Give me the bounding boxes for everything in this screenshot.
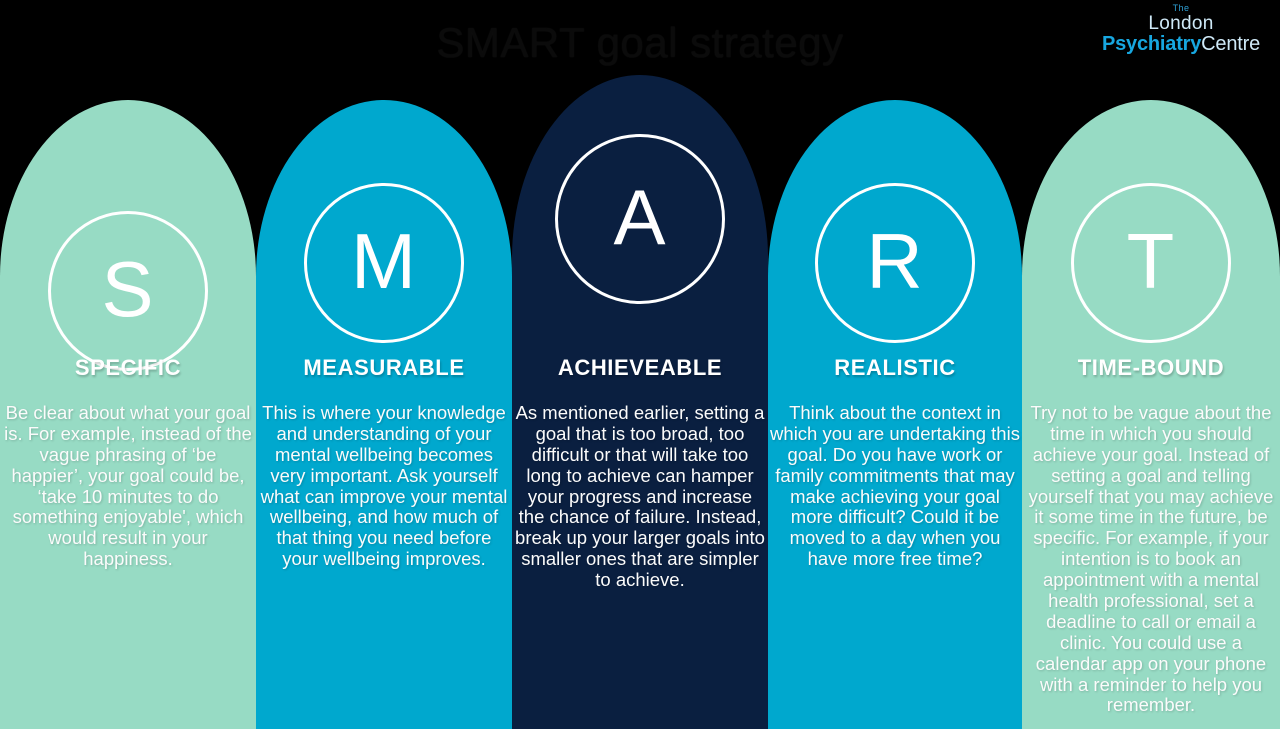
logo-psychiatry-text: Psychiatry [1102,33,1201,55]
pillar-measurable-body: This is where your knowledge and underst… [256,403,512,570]
logo-line-3: PsychiatryCentre [1096,34,1266,54]
logo-the-text: The [1096,4,1266,13]
pillar-time-bound-heading: TIME-BOUND [1022,355,1280,381]
pillar-specific-body: Be clear about what your goal is. For ex… [0,403,256,570]
pillar-realistic: R REALISTIC Think about the context in w… [768,100,1022,729]
pillar-realistic-letter: R [866,222,923,300]
pillar-specific-heading: SPECIFIC [0,355,256,381]
pillar-achieveable-letter: A [613,178,666,256]
pillar-specific: S SPECIFIC Be clear about what your goal… [0,100,256,729]
infographic-canvas: SMART goal strategy The London Psychiatr… [0,0,1280,729]
page-title: SMART goal strategy [0,18,1280,68]
pillar-realistic-body: Think about the context in which you are… [768,403,1022,570]
pillar-measurable: M MEASURABLE This is where your knowledg… [256,100,512,729]
pillar-specific-letter: S [101,250,154,328]
pillar-realistic-badge: R [815,183,975,343]
pillar-achieveable: A ACHIEVEABLE As mentioned earlier, sett… [512,75,768,729]
pillar-achieveable-badge: A [555,134,725,304]
pillar-time-bound-body: Try not to be vague about the time in wh… [1022,403,1280,716]
pillar-realistic-heading: REALISTIC [768,355,1022,381]
pillar-time-bound-letter: T [1127,222,1176,300]
logo-centre-text: Centre [1201,33,1260,55]
pillar-time-bound: T TIME-BOUND Try not to be vague about t… [1022,100,1280,729]
pillar-achieveable-body: As mentioned earlier, setting a goal tha… [512,403,768,591]
pillar-measurable-badge: M [304,183,464,343]
pillar-measurable-letter: M [351,222,417,300]
pillar-measurable-heading: MEASURABLE [256,355,512,381]
pillar-specific-badge: S [48,211,208,371]
logo-london-text: London [1096,14,1266,33]
pillar-time-bound-badge: T [1071,183,1231,343]
pillar-achieveable-heading: ACHIEVEABLE [512,355,768,381]
logo: The London PsychiatryCentre [1096,4,1266,50]
